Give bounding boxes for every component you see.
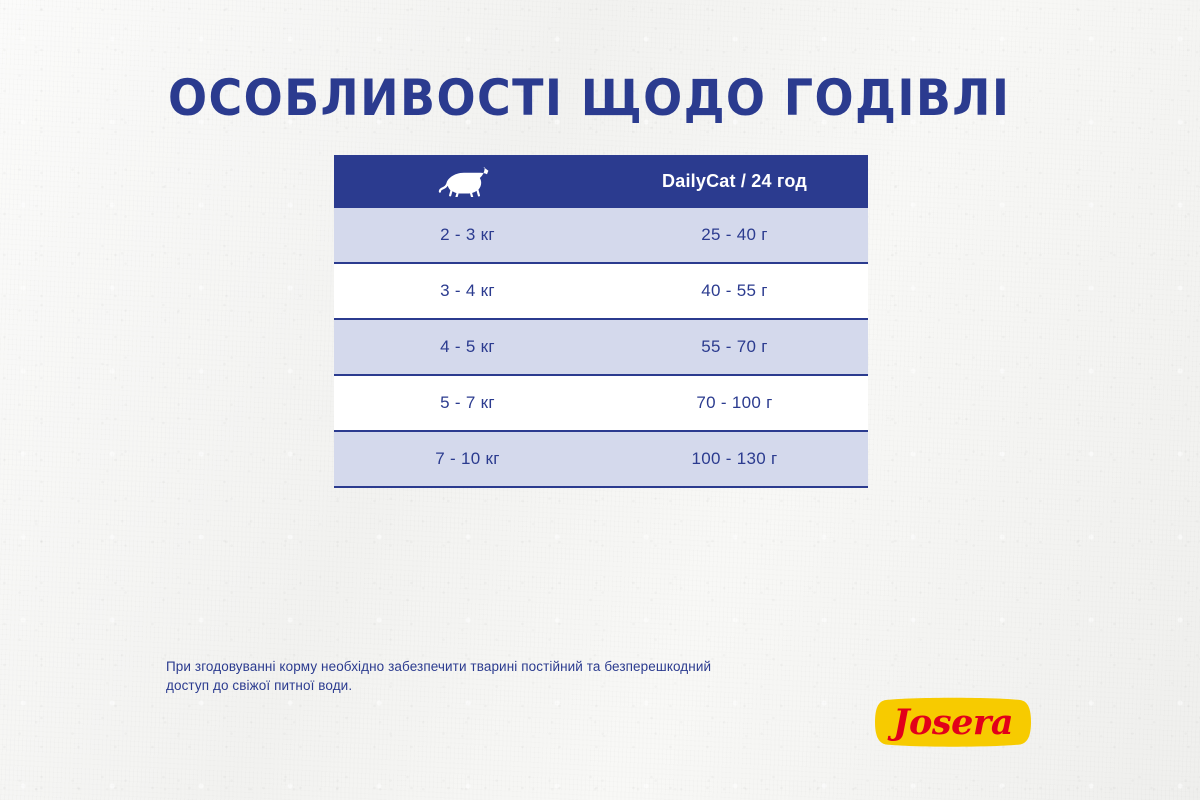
cell-amount: 40 - 55 г — [601, 263, 868, 319]
cell-weight: 5 - 7 кг — [334, 375, 601, 431]
table-row: 2 - 3 кг 25 - 40 г — [334, 208, 868, 263]
cell-weight: 4 - 5 кг — [334, 319, 601, 375]
cell-weight: 7 - 10 кг — [334, 431, 601, 487]
feeding-table: DailyCat / 24 год 2 - 3 кг 25 - 40 г 3 -… — [334, 155, 868, 488]
cell-weight: 3 - 4 кг — [334, 263, 601, 319]
cell-weight: 2 - 3 кг — [334, 208, 601, 263]
amount-column-header-label: DailyCat / 24 год — [662, 171, 807, 191]
cell-amount: 55 - 70 г — [601, 319, 868, 375]
cell-amount: 70 - 100 г — [601, 375, 868, 431]
logo-wordmark-text: Josera — [887, 702, 1013, 743]
table-header: DailyCat / 24 год — [334, 155, 868, 208]
table-header-row: DailyCat / 24 год — [334, 155, 868, 208]
table-row: 4 - 5 кг 55 - 70 г — [334, 319, 868, 375]
cell-amount: 100 - 130 г — [601, 431, 868, 487]
cell-amount: 25 - 40 г — [601, 208, 868, 263]
josera-logo: Josera — [874, 697, 1032, 748]
table-body: 2 - 3 кг 25 - 40 г 3 - 4 кг 40 - 55 г 4 … — [334, 208, 868, 487]
table-row: 3 - 4 кг 40 - 55 г — [334, 263, 868, 319]
walking-cat-icon — [437, 167, 499, 197]
table-row: 5 - 7 кг 70 - 100 г — [334, 375, 868, 431]
amount-column-header: DailyCat / 24 год — [601, 155, 868, 208]
table-row: 7 - 10 кг 100 - 130 г — [334, 431, 868, 487]
feeding-note: При згодовуванні корму необхідно забезпе… — [166, 657, 726, 695]
page-title: ОСОБЛИВОСТІ ЩОДО ГОДІВЛІ — [168, 70, 996, 126]
weight-column-header — [334, 155, 601, 208]
